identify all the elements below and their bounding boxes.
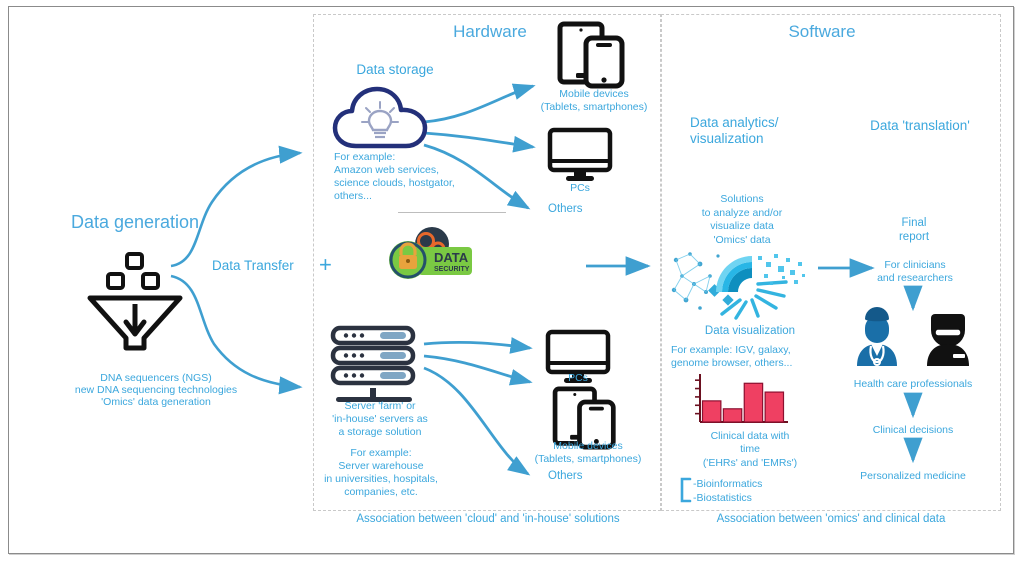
viz-example-line-1: For example: IGV, galaxy, xyxy=(671,344,851,357)
server-example-line-3: in universities, hospitals, xyxy=(311,473,451,486)
bracket-item-2: -Biostatistics xyxy=(693,492,843,506)
server-example-line-1: For example: xyxy=(311,447,451,460)
chart-caption: Clinical data with time ('EHRs' and 'EMR… xyxy=(665,430,835,470)
server-desc-line-2: 'in-house' servers as xyxy=(316,413,444,426)
hardware-footer: Association between 'cloud' and 'in-hous… xyxy=(320,513,656,526)
caption-line-3: 'Omics' data generation xyxy=(25,396,287,408)
server-desc-line-1: Server 'farm' or xyxy=(316,400,444,413)
data-visualization-title: Data visualization xyxy=(665,325,835,338)
chain-label-personalized-medicine: Personalized medicine xyxy=(838,470,988,482)
mobile-label-line-2: (Tablets, smartphones) xyxy=(520,101,668,114)
software-footer: Association between 'omics' and clinical… xyxy=(668,513,994,526)
audience-line-2: and researchers xyxy=(856,272,974,285)
data-translation-title: Data 'translation' xyxy=(845,118,995,134)
cloud-target-label-others: Others xyxy=(548,203,628,216)
svg-text:SECURITY: SECURITY xyxy=(434,266,470,273)
software-heading: Software xyxy=(752,22,892,42)
chain-label-clinical-decisions: Clinical decisions xyxy=(845,424,981,436)
bracket-item-1: -Bioinformatics xyxy=(693,478,843,492)
server-mobile-label-line-2: (Tablets, smartphones) xyxy=(514,453,662,466)
cloud-target-label-mobile: Mobile devices (Tablets, smartphones) xyxy=(520,88,668,114)
viz-example-line-2: genome browser, others... xyxy=(671,357,851,370)
diagram-canvas: Hardware Software Data generation DNA se… xyxy=(0,0,1024,566)
solution-line-3: visualize data xyxy=(668,220,816,234)
final-report-line-1: Final xyxy=(868,216,960,230)
caption-line-1: DNA sequencers (NGS) xyxy=(25,372,287,384)
chain-label-health-care: Health care professionals xyxy=(838,378,988,390)
server-desc-line-3: a storage solution xyxy=(316,426,444,439)
server-description: Server 'farm' or 'in-house' servers as a… xyxy=(316,400,444,439)
server-target-label-mobile: Mobile devices (Tablets, smartphones) xyxy=(514,440,662,466)
chart-caption-line-1: Clinical data with xyxy=(665,430,835,443)
cloud-example-line-3: science clouds, hostgator, xyxy=(334,177,509,190)
cloud-example-text: For example: Amazon web services, scienc… xyxy=(334,151,509,203)
bracket-items: -Bioinformatics -Biostatistics xyxy=(693,478,843,505)
data-analytics-title: Data analytics/ visualization xyxy=(690,115,840,147)
data-generation-caption: DNA sequencers (NGS) new DNA sequencing … xyxy=(25,372,287,409)
server-target-label-pcs: PCs xyxy=(538,372,618,384)
hardware-heading: Hardware xyxy=(420,22,560,42)
cloud-example-line-4: others... xyxy=(334,190,509,203)
data-generation-title: Data generation xyxy=(40,212,230,233)
final-report-title: Final report xyxy=(868,216,960,244)
data-transfer-label: Data Transfer xyxy=(212,258,322,274)
final-report-audience: For clinicians and researchers xyxy=(856,259,974,285)
server-example-text: For example: Server warehouse in univers… xyxy=(311,447,451,500)
analytics-title-line-2: visualization xyxy=(690,131,840,147)
final-report-line-2: report xyxy=(868,230,960,244)
analytics-title-line-1: Data analytics/ xyxy=(690,115,840,131)
mobile-label-line-1: Mobile devices xyxy=(520,88,668,101)
svg-text:DATA: DATA xyxy=(434,250,469,265)
chart-caption-line-2: time xyxy=(665,443,835,456)
caption-line-2: new DNA sequencing technologies xyxy=(25,384,287,396)
audience-line-1: For clinicians xyxy=(856,259,974,272)
data-storage-title: Data storage xyxy=(330,62,460,78)
cloud-example-line-2: Amazon web services, xyxy=(334,164,509,177)
plus-symbol: + xyxy=(319,252,332,278)
cloud-target-label-pcs: PCs xyxy=(540,182,620,194)
solution-line-4: 'Omics' data xyxy=(668,234,816,248)
server-target-label-others: Others xyxy=(548,470,628,483)
server-mobile-label-line-1: Mobile devices xyxy=(514,440,662,453)
visualization-example-text: For example: IGV, galaxy, genome browser… xyxy=(671,344,851,370)
analytics-solutions-text: Solutions to analyze and/or visualize da… xyxy=(668,193,816,248)
data-security-badge: DATA SECURITY xyxy=(388,224,476,282)
server-example-line-2: Server warehouse xyxy=(311,460,451,473)
cloud-example-line-1: For example: xyxy=(334,151,509,164)
chart-caption-line-3: ('EHRs' and 'EMRs') xyxy=(665,457,835,470)
server-example-line-4: companies, etc. xyxy=(311,486,451,499)
solution-line-1: Solutions xyxy=(668,193,816,207)
solution-line-2: to analyze and/or xyxy=(668,207,816,221)
